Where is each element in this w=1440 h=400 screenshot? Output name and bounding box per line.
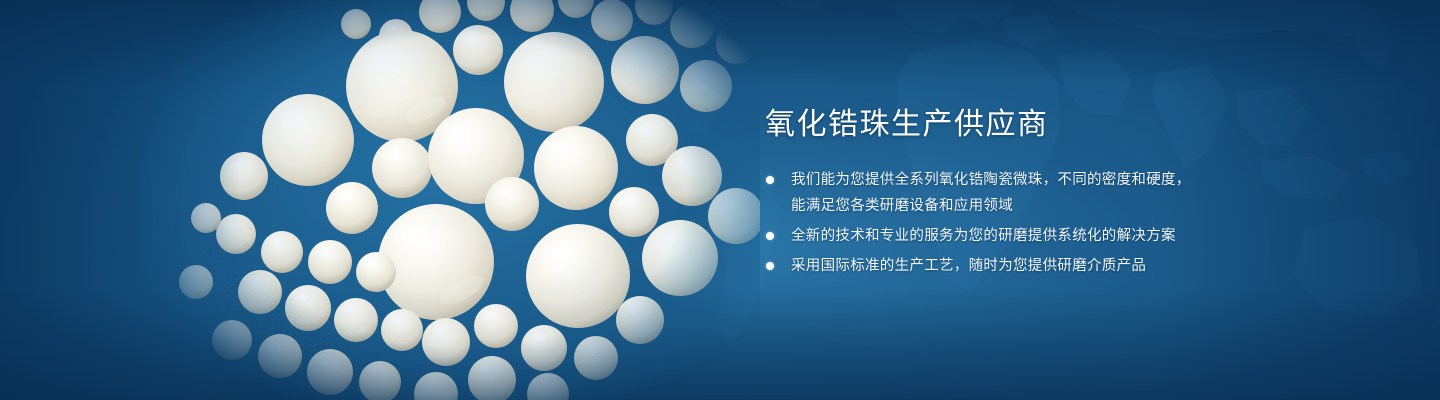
list-item-line2: 能满足您各类研磨设备和应用领域	[791, 193, 1265, 219]
page-title: 氧化锆珠生产供应商	[765, 105, 1265, 145]
feature-list: 我们能为您提供全系列氧化锆陶瓷微珠，不同的密度和硬度， 能满足您各类研磨设备和应…	[765, 167, 1265, 279]
list-item: 采用国际标准的生产工艺，随时为您提供研磨介质产品	[765, 253, 1265, 279]
list-item-line1: 我们能为您提供全系列氧化锆陶瓷微珠，不同的密度和硬度，	[791, 172, 1191, 188]
zirconia-beads-photo	[140, 0, 760, 400]
list-item-line1: 采用国际标准的生产工艺，随时为您提供研磨介质产品	[791, 258, 1146, 274]
banner-copy: 氧化锆珠生产供应商 我们能为您提供全系列氧化锆陶瓷微珠，不同的密度和硬度， 能满…	[765, 105, 1265, 283]
bullet-dot-icon	[766, 232, 774, 240]
hero-banner: 氧化锆珠生产供应商 我们能为您提供全系列氧化锆陶瓷微珠，不同的密度和硬度， 能满…	[0, 0, 1440, 400]
list-item-line1: 全新的技术和专业的服务为您的研磨提供系统化的解决方案	[791, 228, 1176, 244]
bullet-dot-icon	[766, 176, 774, 184]
bullet-dot-icon	[766, 262, 774, 270]
list-item: 全新的技术和专业的服务为您的研磨提供系统化的解决方案	[765, 223, 1265, 249]
list-item: 我们能为您提供全系列氧化锆陶瓷微珠，不同的密度和硬度， 能满足您各类研磨设备和应…	[765, 167, 1265, 219]
